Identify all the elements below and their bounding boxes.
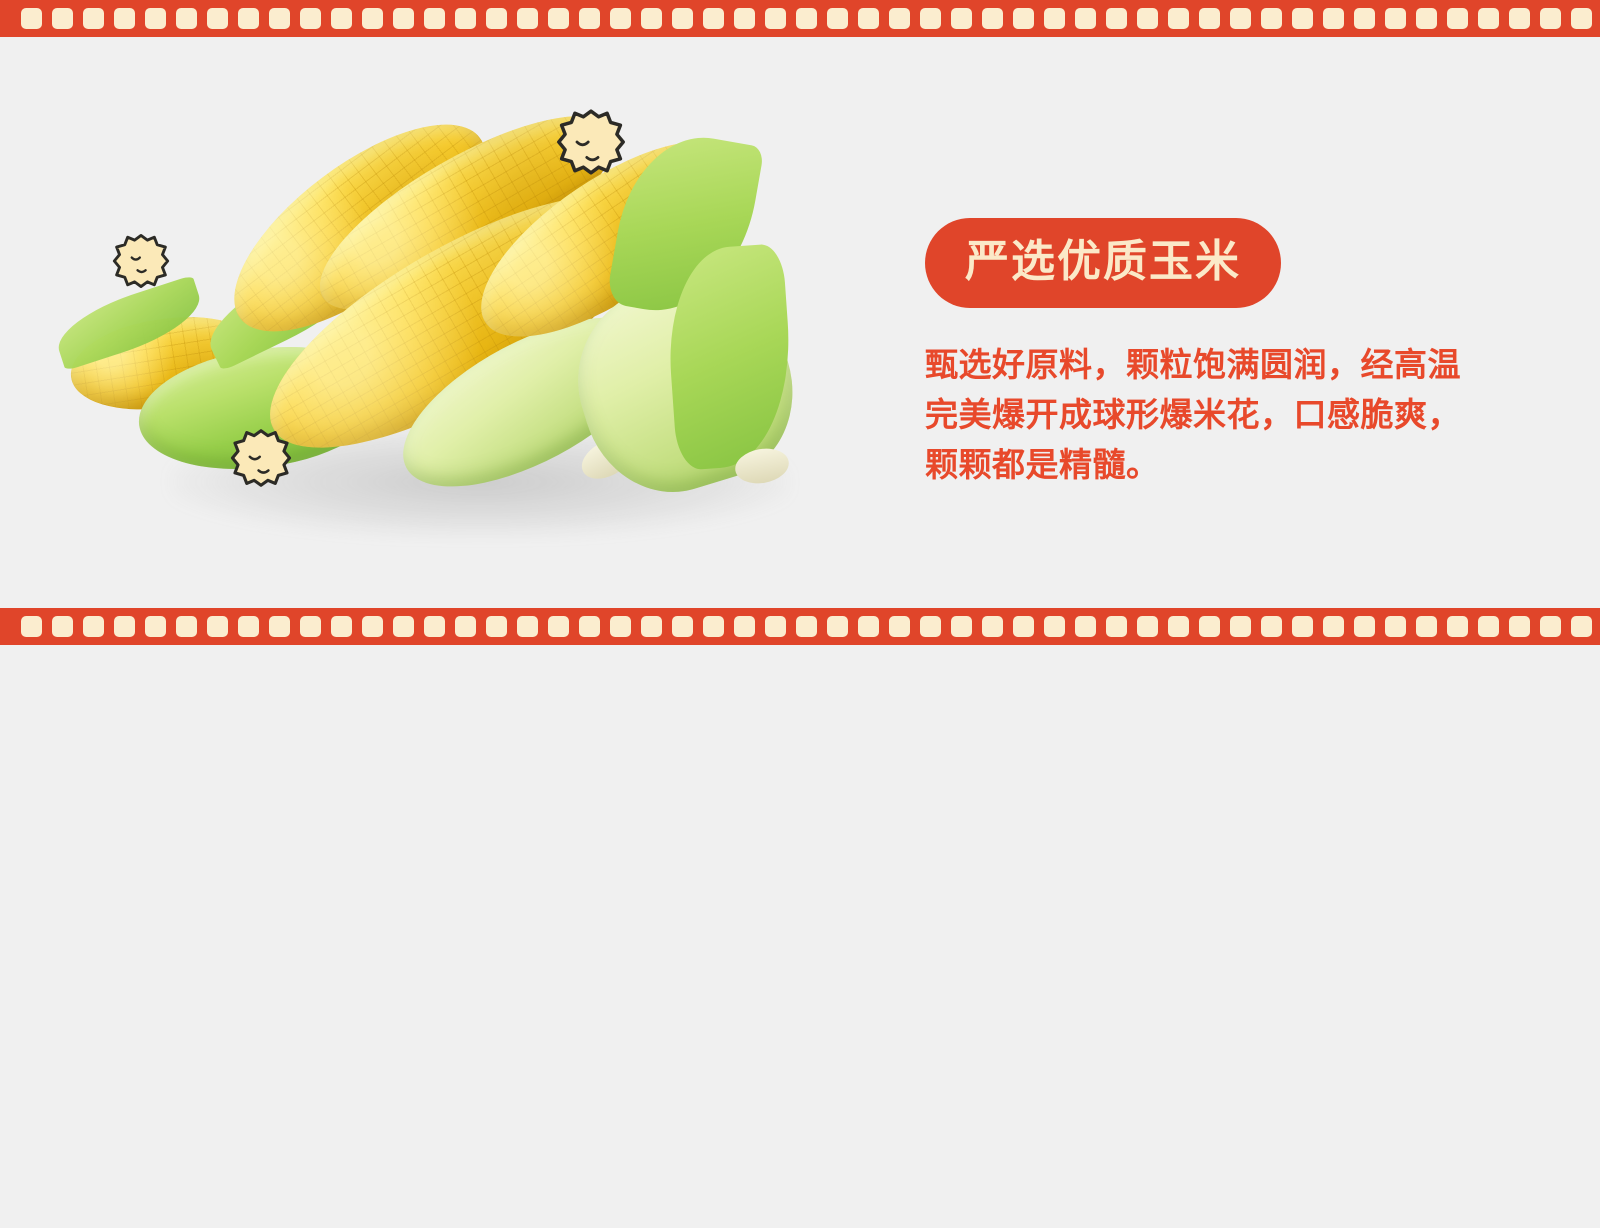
- film-perforation: [1230, 616, 1251, 637]
- film-perforation: [1385, 616, 1406, 637]
- film-perforation: [672, 8, 693, 29]
- film-perforation: [1013, 616, 1034, 637]
- film-perforation: [114, 8, 135, 29]
- film-perforation: [1199, 616, 1220, 637]
- film-perforation: [21, 616, 42, 637]
- film-perforation: [1447, 8, 1468, 29]
- film-perforation: [858, 8, 879, 29]
- film-strip-middle: [0, 608, 1600, 645]
- film-perforation: [982, 8, 1003, 29]
- film-perforation: [83, 8, 104, 29]
- popcorn-doodle-left: [112, 232, 170, 290]
- film-perforation: [21, 8, 42, 29]
- film-perforation: [1447, 616, 1468, 637]
- film-perforation: [734, 616, 755, 637]
- corn-text-block: 严选优质玉米 甄选好原料，颗粒饱满圆润，经高温完美爆开成球形爆米花，口感脆爽，颗…: [925, 218, 1505, 490]
- film-perforation: [424, 8, 445, 29]
- film-perforation: [393, 8, 414, 29]
- film-perforation: [1168, 616, 1189, 637]
- film-perforation: [1571, 8, 1592, 29]
- film-perforation: [207, 8, 228, 29]
- film-perforation: [1199, 8, 1220, 29]
- film-perforation: [83, 616, 104, 637]
- film-perforation: [176, 616, 197, 637]
- film-perforation: [951, 616, 972, 637]
- film-perforation: [455, 616, 476, 637]
- popcorn-doodle-top: [556, 107, 626, 177]
- film-perforation: [951, 8, 972, 29]
- film-perforation: [641, 8, 662, 29]
- film-perforation: [1137, 616, 1158, 637]
- film-perforation: [796, 616, 817, 637]
- film-perforation: [1354, 8, 1375, 29]
- film-perforation: [145, 616, 166, 637]
- film-perforation: [393, 616, 414, 637]
- film-perforation: [889, 616, 910, 637]
- film-perforation: [827, 616, 848, 637]
- film-perforation: [1323, 8, 1344, 29]
- film-perforation: [331, 616, 352, 637]
- film-perforation: [238, 8, 259, 29]
- film-perforation: [827, 8, 848, 29]
- film-perforation: [1137, 8, 1158, 29]
- film-perforation: [1509, 8, 1530, 29]
- film-perforation: [1261, 8, 1282, 29]
- film-perforation: [1044, 616, 1065, 637]
- film-perforation: [1075, 616, 1096, 637]
- film-strip-top: [0, 0, 1600, 37]
- film-perforation: [734, 8, 755, 29]
- film-perforation: [1354, 616, 1375, 637]
- film-perforation: [1540, 616, 1561, 637]
- corn-description: 甄选好原料，颗粒饱满圆润，经高温完美爆开成球形爆米花，口感脆爽，颗颗都是精髓。: [925, 340, 1470, 490]
- section-premium-corn: 严选优质玉米 甄选好原料，颗粒饱满圆润，经高温完美爆开成球形爆米花，口感脆爽，颗…: [0, 37, 1600, 608]
- film-perforation: [858, 616, 879, 637]
- film-perforation: [52, 616, 73, 637]
- film-perforation: [1540, 8, 1561, 29]
- film-perforation: [610, 8, 631, 29]
- film-perforation: [1571, 616, 1592, 637]
- film-perforation: [1261, 616, 1282, 637]
- film-perforation: [1230, 8, 1251, 29]
- film-perforation: [579, 616, 600, 637]
- film-perforation: [1292, 8, 1313, 29]
- film-perforation: [207, 616, 228, 637]
- film-perforation: [1323, 616, 1344, 637]
- film-perforation: [920, 8, 941, 29]
- film-perforation: [486, 8, 507, 29]
- film-perforation: [1478, 616, 1499, 637]
- film-perforation: [145, 8, 166, 29]
- film-perforation: [269, 616, 290, 637]
- film-perforation: [455, 8, 476, 29]
- film-perforation: [114, 616, 135, 637]
- film-perforation: [517, 8, 538, 29]
- film-perforation: [982, 616, 1003, 637]
- film-perforation: [362, 616, 383, 637]
- badge-premium-corn: 严选优质玉米: [925, 218, 1281, 308]
- film-perforation: [300, 8, 321, 29]
- corn-photo: [60, 97, 840, 567]
- film-perforation: [703, 8, 724, 29]
- film-perforation: [1075, 8, 1096, 29]
- section-healthy: 健康且少负担 山楂消脂，消积，可提升消化能力；八珍益气补血，可调养身子，男女都适…: [0, 645, 1600, 1228]
- film-perforation: [703, 616, 724, 637]
- film-perforation: [548, 616, 569, 637]
- film-perforation: [610, 616, 631, 637]
- film-perforation: [331, 8, 352, 29]
- film-perforation: [1292, 616, 1313, 637]
- film-perforation: [1416, 616, 1437, 637]
- film-perforation: [1013, 8, 1034, 29]
- film-perforation: [238, 616, 259, 637]
- film-perforation: [52, 8, 73, 29]
- film-perforation: [672, 616, 693, 637]
- film-perforation: [641, 616, 662, 637]
- product-detail-page: 严选优质玉米 甄选好原料，颗粒饱满圆润，经高温完美爆开成球形爆米花，口感脆爽，颗…: [0, 0, 1600, 1228]
- film-perforation: [548, 8, 569, 29]
- film-perforation: [1416, 8, 1437, 29]
- film-perforation: [1106, 8, 1127, 29]
- popcorn-doodle-bottom: [230, 427, 292, 489]
- film-perforation: [486, 616, 507, 637]
- film-perforation: [1044, 8, 1065, 29]
- film-perforation: [362, 8, 383, 29]
- film-perforation: [1168, 8, 1189, 29]
- film-perforation: [889, 8, 910, 29]
- film-perforation: [1478, 8, 1499, 29]
- film-perforation: [1509, 616, 1530, 637]
- film-perforation: [300, 616, 321, 637]
- film-perforation: [517, 616, 538, 637]
- film-perforation: [269, 8, 290, 29]
- film-perforation: [176, 8, 197, 29]
- film-perforation: [796, 8, 817, 29]
- film-perforation: [579, 8, 600, 29]
- film-perforation: [920, 616, 941, 637]
- film-perforation: [765, 616, 786, 637]
- film-perforation: [1106, 616, 1127, 637]
- film-perforation: [765, 8, 786, 29]
- film-perforation: [424, 616, 445, 637]
- film-perforation: [1385, 8, 1406, 29]
